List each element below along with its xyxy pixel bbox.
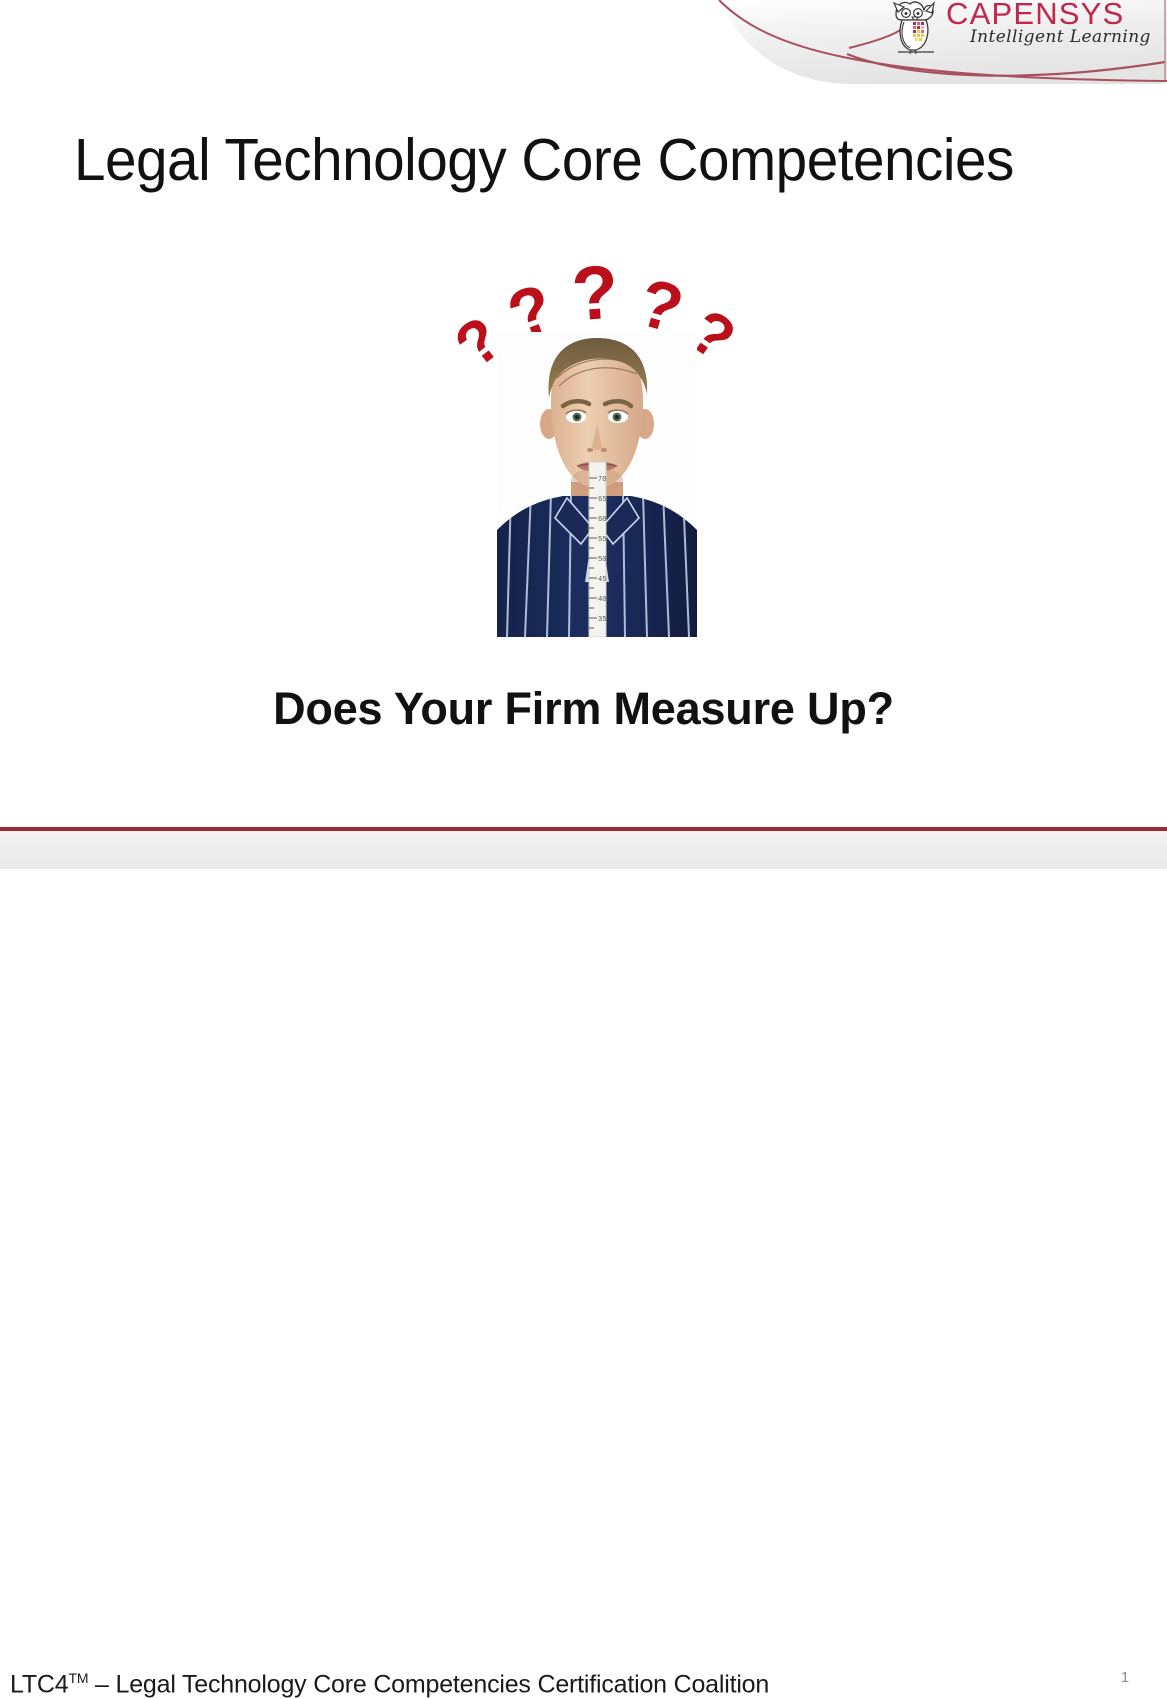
owl-icon <box>884 0 946 60</box>
footer-org-prefix: LTC4 <box>10 1670 68 1698</box>
svg-text:35: 35 <box>598 616 606 624</box>
footer-bar: LTC4TM – Legal Technology Core Competenc… <box>0 831 1167 869</box>
svg-text:45: 45 <box>598 576 606 584</box>
person-photo: 70 65 60 55 50 45 40 35 <box>497 332 697 637</box>
trademark-symbol: TM <box>68 1670 88 1686</box>
footer-organization: LTC4TM – Legal Technology Core Competenc… <box>10 1670 769 1699</box>
question-mark-icon: ? <box>569 254 621 333</box>
presentation-slide: CAPENSYS Intelligent Learning Legal Tech… <box>0 0 1167 869</box>
footer-org-name: – Legal Technology Core Competencies Cer… <box>88 1670 769 1698</box>
svg-text:50: 50 <box>598 556 606 564</box>
svg-text:60: 60 <box>598 516 606 524</box>
svg-text:70: 70 <box>598 476 606 484</box>
brand-tagline: Intelligent Learning <box>970 27 1151 47</box>
svg-text:40: 40 <box>598 596 606 604</box>
page-number: 1 <box>1110 1669 1140 1686</box>
page-title: Legal Technology Core Competencies <box>74 126 1055 194</box>
page-subtitle: Does Your Firm Measure Up? <box>0 683 1167 735</box>
svg-text:55: 55 <box>598 536 606 544</box>
illustration: ? ? ? ? ? <box>455 250 755 640</box>
svg-text:65: 65 <box>598 496 606 504</box>
capensys-logo: CAPENSYS Intelligent Learning <box>884 0 1159 62</box>
